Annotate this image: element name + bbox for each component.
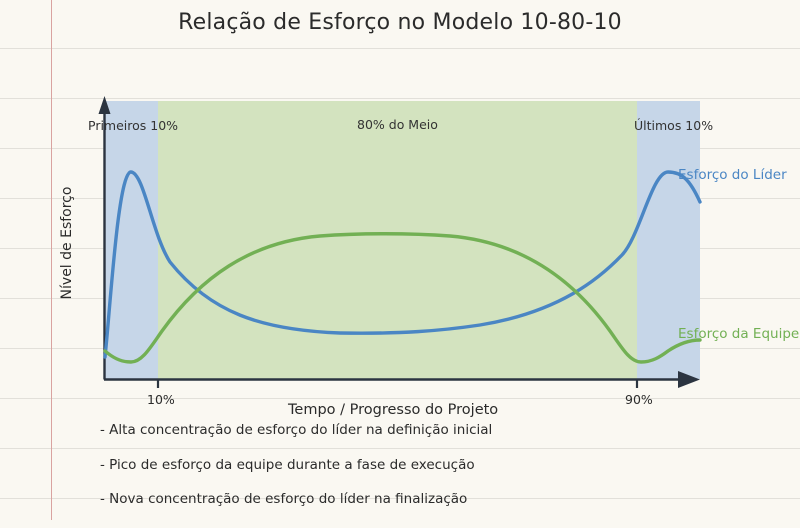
x-axis-label: Tempo / Progresso do Projeto xyxy=(288,402,498,418)
notes-list: - Alta concentração de esforço do líder … xyxy=(100,424,720,528)
band-label-first-10: Primeiros 10% xyxy=(88,118,178,133)
note-item: - Nova concentração de esforço do líder … xyxy=(100,493,720,507)
y-axis-label: Nível de Esforço xyxy=(59,168,75,318)
note-item: - Alta concentração de esforço do líder … xyxy=(100,424,720,438)
band-first-10 xyxy=(105,101,158,379)
band-middle-80 xyxy=(158,101,637,379)
x-tick-label-10: 10% xyxy=(147,392,175,407)
band-label-last-10: Últimos 10% xyxy=(634,118,713,133)
band-label-middle-80: 80% do Meio xyxy=(357,117,438,132)
chart-page: Relação de Esforço no Modelo 10-80-10 Pr… xyxy=(0,0,800,520)
series-label-team: Esforço da Equipe xyxy=(678,326,799,342)
x-tick-label-90: 90% xyxy=(625,392,653,407)
note-item: - Pico de esforço da equipe durante a fa… xyxy=(100,459,720,473)
series-label-leader: Esforço do Líder xyxy=(678,167,787,183)
